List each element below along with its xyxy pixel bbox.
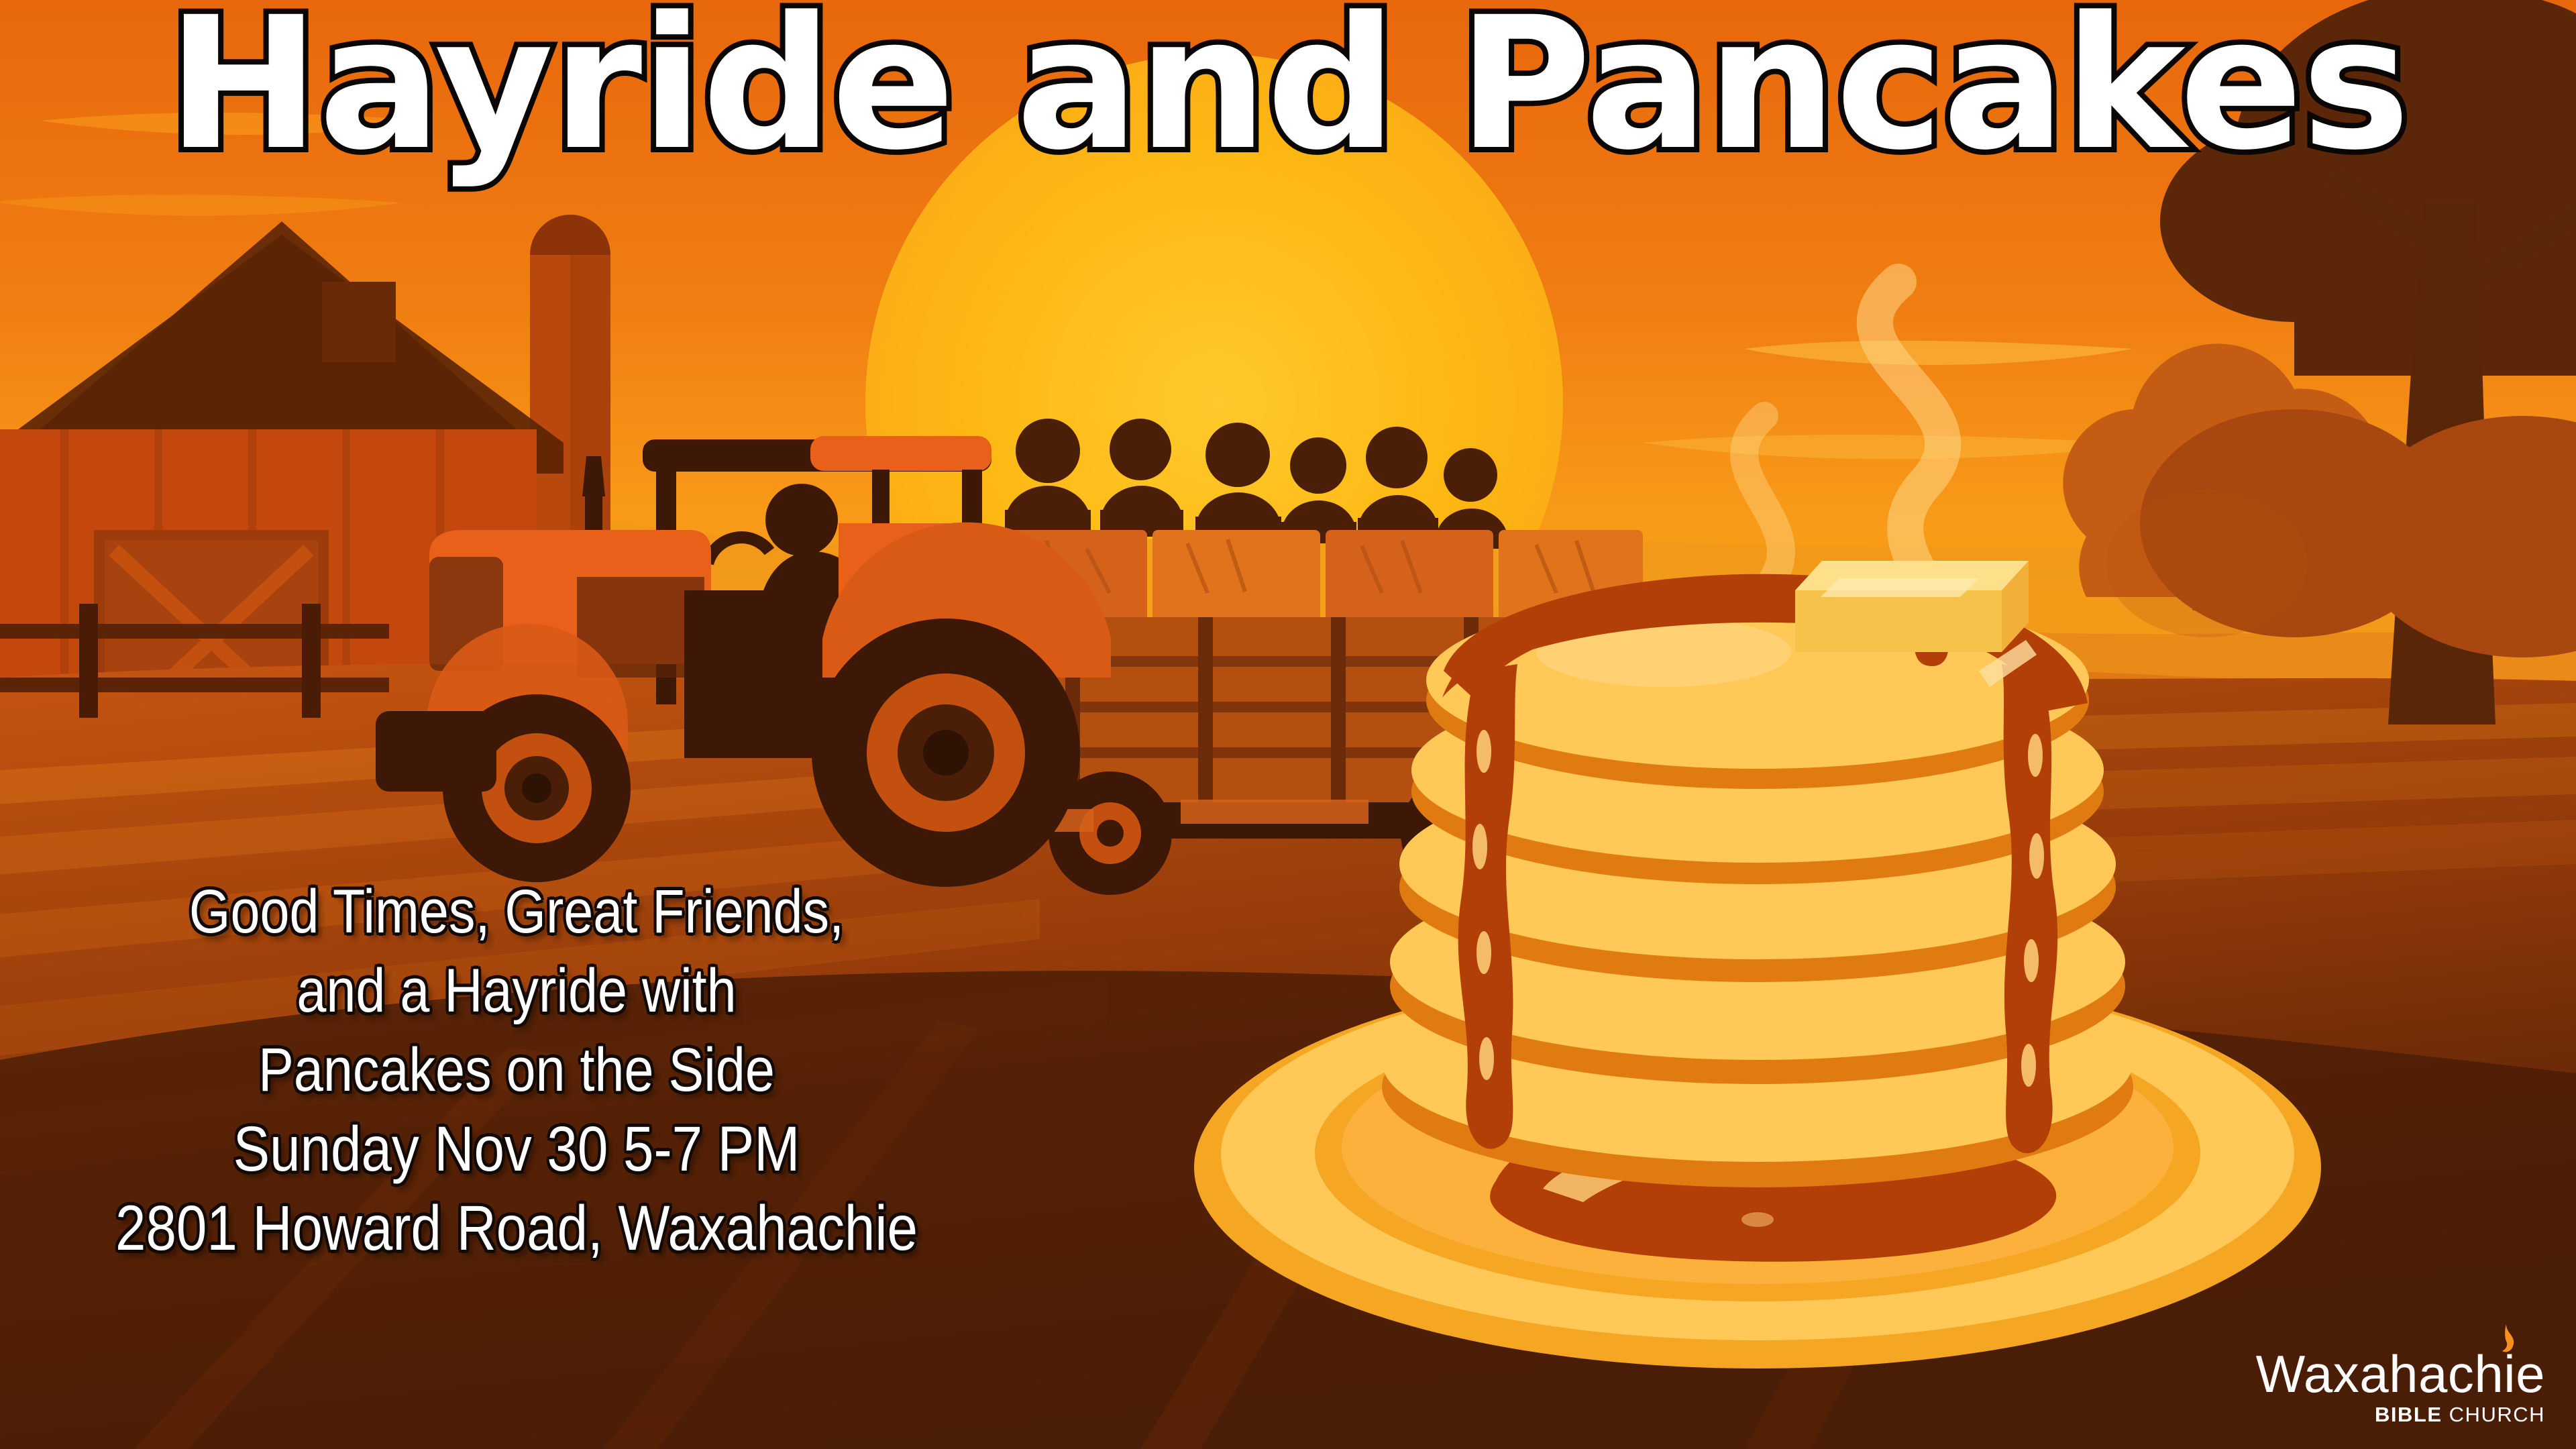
- logo-sub-bible: BIBLE: [2375, 1403, 2443, 1426]
- poster-canvas: Hayride and Pancakes Hayride and Pancake…: [0, 0, 2576, 1449]
- butter-pat-icon: [1795, 561, 2029, 652]
- hayloft-window: [322, 282, 396, 362]
- tractor-rear-wheel: [812, 619, 1080, 887]
- logo-wordmark: Waxahachie: [2256, 1348, 2545, 1400]
- logo-subtitle: BIBLE CHURCH: [2256, 1404, 2545, 1425]
- page-title: Hayride and Pancakes: [167, 0, 2409, 176]
- church-logo: Waxahachie BIBLE CHURCH: [2256, 1348, 2545, 1425]
- flame-icon: [2493, 1324, 2516, 1358]
- poster-title-fill: Hayride and Pancakes: [0, 0, 2576, 176]
- scene-illustration: [0, 0, 2576, 1449]
- logo-sub-church: CHURCH: [2449, 1403, 2545, 1426]
